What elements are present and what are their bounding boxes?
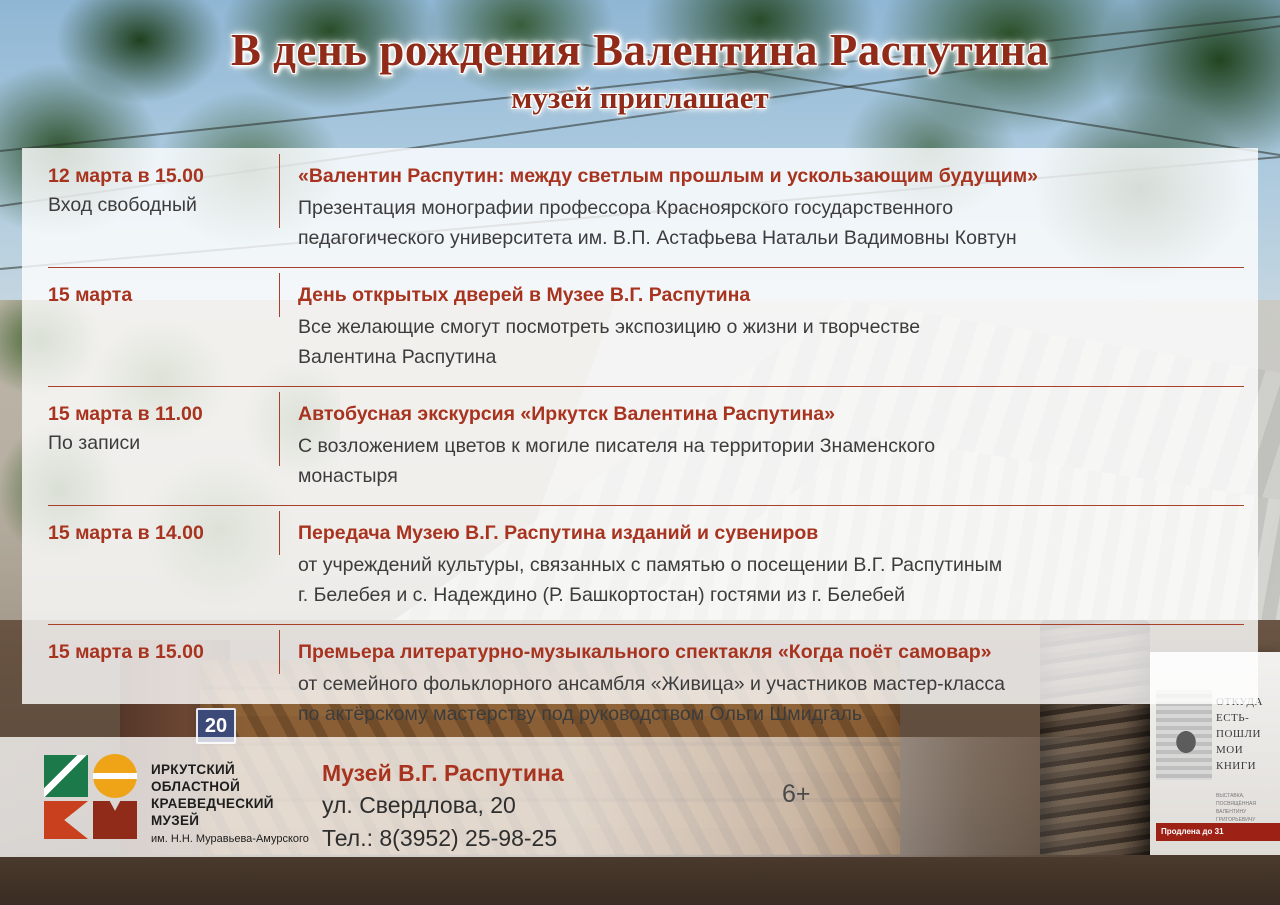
schedule-row-description-line: монастыря [298, 461, 1244, 491]
schedule-row-description-line: по актёрскому мастерству под руководство… [298, 699, 1244, 729]
schedule-row-what: Автобусная экскурсия «Иркутск Валентина … [298, 386, 1258, 505]
schedule-row: 15 мартаДень открытых дверей в Музее В.Г… [22, 267, 1258, 386]
schedule-row-what: «Валентин Распутин: между светлым прошлы… [298, 148, 1258, 267]
museum-logo-subname: им. Н.Н. Муравьева-Амурского [151, 831, 309, 847]
logo-dark-red-book-icon [93, 801, 137, 839]
schedule-row-time: 15 марта в 14.00 [48, 519, 298, 547]
schedule-row-what: Передача Музею В.Г. Распутина изданий и … [298, 505, 1258, 624]
schedule-row-description-line: от семейного фольклорного ансамбля «Живи… [298, 669, 1244, 699]
schedule-row-when: 15 марта в 14.00 [48, 505, 298, 561]
ground-strip [0, 855, 1280, 905]
schedule-row-description-line: от учреждений культуры, связанных с памя… [298, 550, 1244, 580]
age-rating-badge: 6+ [782, 780, 811, 809]
schedule-row-title: «Валентин Распутин: между светлым прошлы… [298, 162, 1244, 191]
schedule-row-description-line: С возложением цветов к могиле писателя н… [298, 431, 1244, 461]
poster-header: В день рождения Валентина Распутина музе… [0, 24, 1280, 116]
schedule-row: 15 марта в 11.00По записиАвтобусная экск… [22, 386, 1258, 505]
museum-address: ул. Свердлова, 20 [322, 789, 564, 822]
museum-name: Музей В.Г. Распутина [322, 757, 564, 789]
museum-phone: Тел.: 8(3952) 25-98-25 [322, 822, 564, 855]
museum-logo-text: ИРКУТСКИЙ ОБЛАСТНОЙ КРАЕВЕДЧЕСКИЙ МУЗЕЙ … [151, 755, 309, 847]
page-title: В день рождения Валентина Распутина [0, 24, 1280, 76]
schedule-row-note: Вход свободный [48, 190, 298, 220]
schedule-row-time: 12 марта в 15.00 [48, 162, 298, 190]
page-subtitle: музей приглашает [0, 80, 1280, 116]
schedule-rows: 12 марта в 15.00Вход свободный«Валентин … [22, 148, 1258, 704]
schedule-row-title: Премьера литературно-музыкального спекта… [298, 638, 1244, 667]
schedule-row: 15 марта в 14.00Передача Музею В.Г. Расп… [22, 505, 1258, 624]
schedule-row-what: День открытых дверей в Музее В.Г. Распут… [298, 267, 1258, 386]
schedule-row-what: Премьера литературно-музыкального спекта… [298, 624, 1258, 743]
schedule-row-description-line: Все желающие смогут посмотреть экспозици… [298, 312, 1244, 342]
logo-green-square-icon [44, 755, 88, 797]
museum-contact-block: Музей В.Г. Распутина ул. Свердлова, 20 Т… [322, 757, 564, 855]
schedule-row-time: 15 марта [48, 281, 298, 309]
museum-logo-mark-icon [44, 755, 140, 839]
poster-footer: ИРКУТСКИЙ ОБЛАСТНОЙ КРАЕВЕДЧЕСКИЙ МУЗЕЙ … [0, 737, 1280, 857]
schedule-row-note: По записи [48, 428, 298, 458]
schedule-row-title: Автобусная экскурсия «Иркутск Валентина … [298, 400, 1244, 429]
logo-orange-circle-icon [93, 754, 137, 798]
schedule-row-when: 12 марта в 15.00Вход свободный [48, 148, 298, 234]
museum-logo-name: ИРКУТСКИЙ ОБЛАСТНОЙ КРАЕВЕДЧЕСКИЙ МУЗЕЙ [151, 761, 309, 829]
schedule-row-description-line: Валентина Распутина [298, 342, 1244, 372]
schedule-row-when: 15 марта в 11.00По записи [48, 386, 298, 472]
poster-canvas: 20 ОТКУДА ЕСТЬ-ПОШЛИ МОИ КНИГИ ВЫСТАВКА,… [0, 0, 1280, 905]
schedule-row: 15 марта в 15.00Премьера литературно-муз… [22, 624, 1258, 743]
schedule-row-time: 15 марта в 11.00 [48, 400, 298, 428]
schedule-row-time: 15 марта в 15.00 [48, 638, 298, 666]
schedule-panel: 12 марта в 15.00Вход свободный«Валентин … [22, 148, 1258, 704]
museum-logo: ИРКУТСКИЙ ОБЛАСТНОЙ КРАЕВЕДЧЕСКИЙ МУЗЕЙ … [44, 755, 309, 847]
schedule-row-title: Передача Музею В.Г. Распутина изданий и … [298, 519, 1244, 548]
schedule-row-description-line: Презентация монографии профессора Красно… [298, 193, 1244, 223]
schedule-row: 12 марта в 15.00Вход свободный«Валентин … [22, 148, 1258, 267]
schedule-row-when: 15 марта в 15.00 [48, 624, 298, 680]
schedule-row-description-line: педагогического университета им. В.П. Ас… [298, 223, 1244, 253]
schedule-row-title: День открытых дверей в Музее В.Г. Распут… [298, 281, 1244, 310]
schedule-row-description-line: г. Белебея и с. Надеждино (Р. Башкортост… [298, 580, 1244, 610]
logo-red-k-icon [44, 801, 88, 839]
schedule-row-when: 15 марта [48, 267, 298, 323]
